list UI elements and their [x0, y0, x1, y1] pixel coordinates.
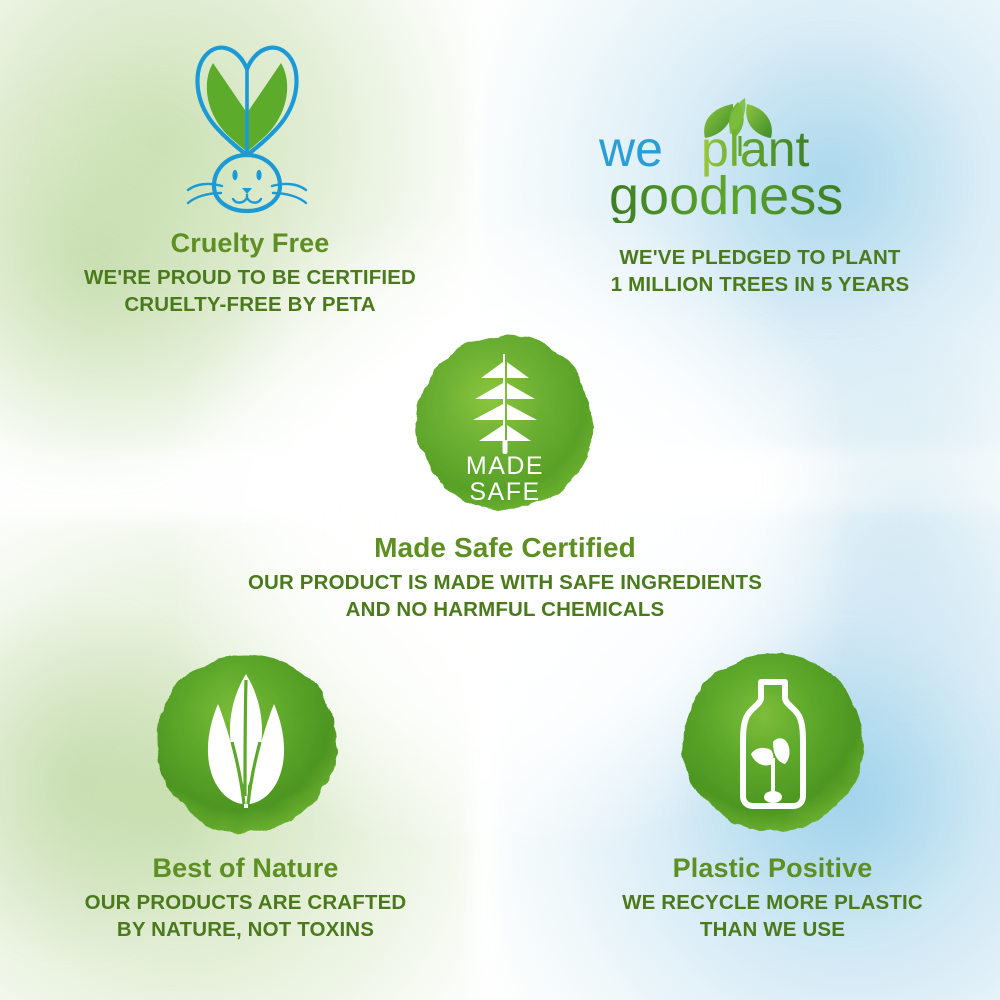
- made-safe-badge-word-2: SAFE: [469, 478, 540, 506]
- made-safe-badge-word-1: MADE: [466, 452, 544, 480]
- plastic-positive-subtitle-line-1: WE RECYCLE MORE PLASTIC: [545, 890, 1000, 917]
- made-safe-leaf-badge-icon: MADE SAFE: [407, 328, 603, 518]
- made-safe-subtitle-line-1: OUR PRODUCT IS MADE WITH SAFE INGREDIENT…: [205, 570, 805, 597]
- plastic-positive-title: Plastic Positive: [545, 853, 1000, 883]
- cruelty-free-subtitle-line-1: WE'RE PROUD TO BE CERTIFIED: [20, 265, 480, 292]
- logo-word-goodness: goodness: [609, 166, 843, 223]
- bottle-sprout-badge-icon: [673, 646, 873, 841]
- cruelty-free-badge-wrap: [20, 22, 480, 220]
- we-plant-goodness-subtitle-line-2: 1 MILLION TREES IN 5 YEARS: [530, 272, 990, 299]
- feature-plastic-positive: Plastic Positive WE RECYCLE MORE PLASTIC…: [545, 646, 1000, 944]
- best-of-nature-subtitle: OUR PRODUCTS ARE CRAFTED BY NATURE, NOT …: [18, 890, 473, 943]
- made-safe-badge-wrap: MADE SAFE: [205, 328, 805, 518]
- we-plant-goodness-logo-wrap: we plant goodness: [530, 88, 990, 223]
- made-safe-title: Made Safe Certified: [205, 532, 805, 563]
- best-of-nature-title: Best of Nature: [18, 853, 473, 883]
- feature-best-of-nature: Best of Nature OUR PRODUCTS ARE CRAFTED …: [18, 646, 473, 944]
- plastic-positive-badge-wrap: [545, 646, 1000, 841]
- cruelty-free-subtitle-line-2: CRUELTY-FREE BY PETA: [20, 292, 480, 319]
- we-plant-goodness-subtitle-line-1: WE'VE PLEDGED TO PLANT: [530, 245, 990, 272]
- feature-made-safe-certified: MADE SAFE Made Safe Certified OUR PRODUC…: [205, 328, 805, 624]
- feature-we-plant-goodness: we plant goodness WE'VE PLEDGED TO PLANT…: [530, 88, 990, 298]
- made-safe-subtitle-line-2: AND NO HARMFUL CHEMICALS: [205, 597, 805, 624]
- we-plant-goodness-subtitle: WE'VE PLEDGED TO PLANT 1 MILLION TREES I…: [530, 245, 990, 298]
- plastic-positive-subtitle-line-2: THAN WE USE: [545, 917, 1000, 944]
- peta-bunny-heart-icon: [150, 23, 350, 219]
- best-of-nature-subtitle-line-2: BY NATURE, NOT TOXINS: [18, 917, 473, 944]
- cruelty-free-subtitle: WE'RE PROUD TO BE CERTIFIED CRUELTY-FREE…: [20, 265, 480, 318]
- best-of-nature-subtitle-line-1: OUR PRODUCTS ARE CRAFTED: [18, 890, 473, 917]
- infographic-canvas: Cruelty Free WE'RE PROUD TO BE CERTIFIED…: [0, 0, 1000, 1000]
- best-of-nature-badge-wrap: [18, 646, 473, 841]
- three-leaves-badge-icon: [146, 646, 346, 841]
- cruelty-free-title: Cruelty Free: [20, 228, 480, 258]
- we-plant-goodness-logo: we plant goodness: [595, 88, 925, 223]
- made-safe-subtitle: OUR PRODUCT IS MADE WITH SAFE INGREDIENT…: [205, 570, 805, 623]
- feature-cruelty-free: Cruelty Free WE'RE PROUD TO BE CERTIFIED…: [20, 22, 480, 319]
- plastic-positive-subtitle: WE RECYCLE MORE PLASTIC THAN WE USE: [545, 890, 1000, 943]
